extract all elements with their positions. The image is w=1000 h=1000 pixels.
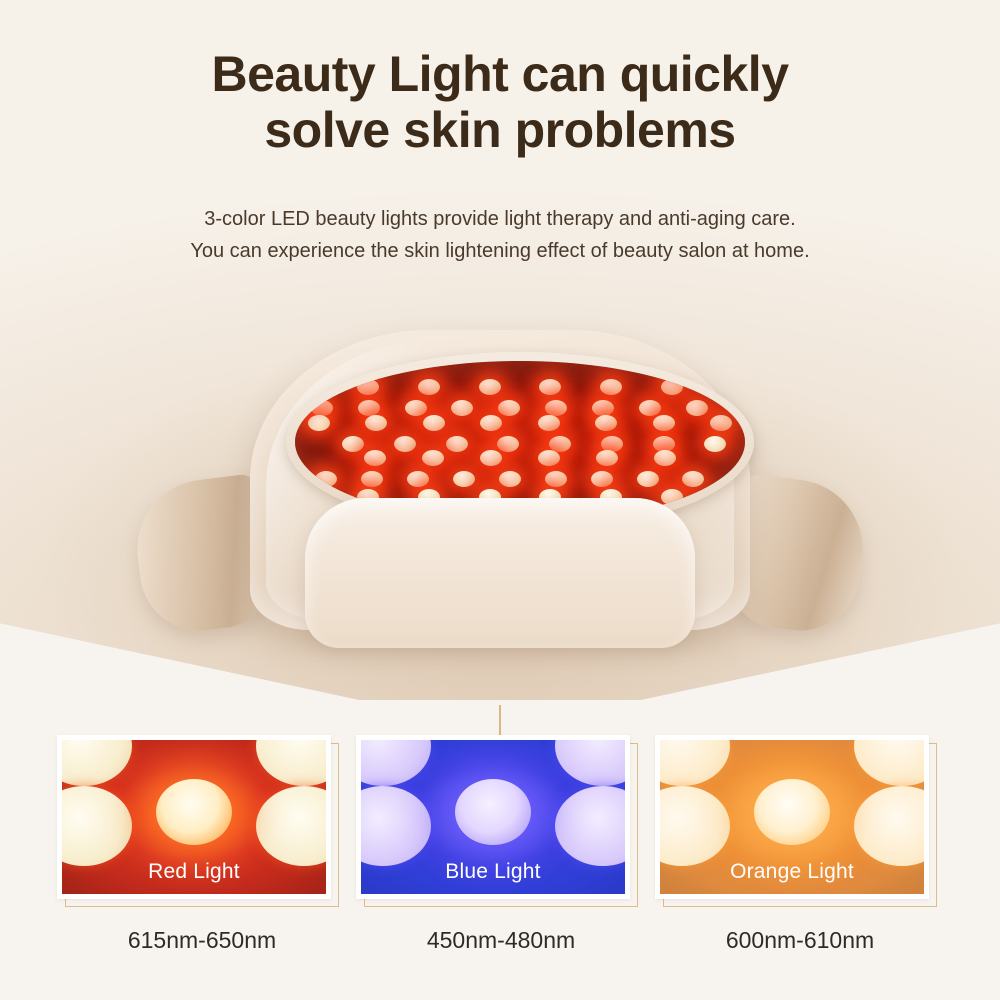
product-feature-page: Beauty Light can quickly solve skin prob…: [0, 0, 1000, 1000]
led-dot-icon: [545, 471, 567, 487]
card-photo-orange: Orange Light: [660, 740, 924, 894]
led-dot-icon: [405, 400, 427, 416]
led-lens-icon: [361, 740, 431, 786]
led-dot-icon: [682, 471, 704, 487]
device-body: [305, 498, 695, 648]
subtitle-line-2: You can experience the skin lightening e…: [0, 235, 1000, 267]
led-dot-icon: [365, 415, 387, 431]
light-mode-cards: Red Light 615nm-650nm Blue Light 450nm-4…: [0, 735, 1000, 985]
card-wavelength-blue: 450nm-480nm: [356, 927, 646, 954]
led-dot-icon: [498, 400, 520, 416]
led-dot-icon: [545, 400, 567, 416]
led-dot-icon: [539, 379, 561, 395]
center-led-glow-icon: [156, 779, 232, 845]
title-line-1: Beauty Light can quickly: [0, 46, 1000, 102]
led-dot-icon: [549, 436, 571, 452]
led-dot-icon: [361, 471, 383, 487]
led-dot-icon: [591, 471, 613, 487]
led-dot-icon: [637, 471, 659, 487]
led-dot-icon: [538, 415, 560, 431]
led-dot-icon: [480, 450, 502, 466]
device-head: [250, 330, 750, 630]
card-photo-wrap-blue: Blue Light: [356, 735, 630, 899]
led-dot-icon: [422, 450, 444, 466]
led-lens-icon: [256, 740, 326, 786]
led-dot-icon: [601, 436, 623, 452]
led-dot-icon: [595, 415, 617, 431]
led-dot-icon: [497, 436, 519, 452]
led-dot-icon: [364, 450, 386, 466]
page-subtitle: 3-color LED beauty lights provide light …: [0, 203, 1000, 267]
led-lens-icon: [854, 740, 924, 786]
card-label-bar-orange: Orange Light: [660, 850, 924, 894]
led-dot-icon: [480, 415, 502, 431]
led-dot-icon: [479, 379, 501, 395]
card-photo-wrap-red: Red Light: [57, 735, 331, 899]
page-title: Beauty Light can quickly solve skin prob…: [0, 46, 1000, 158]
card-label-bar-red: Red Light: [62, 850, 326, 894]
led-dot-icon: [653, 415, 675, 431]
led-dot-icon: [407, 471, 429, 487]
card-photo-blue: Blue Light: [361, 740, 625, 894]
led-dot-icon: [704, 436, 726, 452]
led-dot-icon: [311, 400, 333, 416]
led-beauty-light-device: [130, 330, 870, 660]
card-wavelength-red: 615nm-650nm: [57, 927, 347, 954]
led-lens-icon: [62, 740, 132, 786]
subtitle-line-1: 3-color LED beauty lights provide light …: [0, 203, 1000, 235]
led-dot-icon: [423, 415, 445, 431]
led-dot-icon: [710, 415, 732, 431]
light-card-orange[interactable]: Orange Light 600nm-610nm: [655, 735, 945, 899]
led-dot-icon: [661, 379, 683, 395]
led-lens-icon: [555, 740, 625, 786]
hero-scene: Beauty Light can quickly solve skin prob…: [0, 0, 1000, 700]
led-dot-icon: [342, 436, 364, 452]
led-dot-icon: [654, 450, 676, 466]
led-dot-icon: [592, 400, 614, 416]
led-dot-icon: [661, 489, 683, 505]
led-dot-icon: [418, 379, 440, 395]
led-dot-icon: [357, 379, 379, 395]
led-dot-icon: [308, 415, 330, 431]
led-dot-icon: [499, 471, 521, 487]
center-led-glow-icon: [455, 779, 531, 845]
led-dot-icon: [394, 436, 416, 452]
card-label-bar-blue: Blue Light: [361, 850, 625, 894]
led-dot-icon: [451, 400, 473, 416]
led-dot-icon: [639, 400, 661, 416]
card-photo-red: Red Light: [62, 740, 326, 894]
led-dot-icon: [653, 436, 675, 452]
title-line-2: solve skin problems: [0, 102, 1000, 158]
led-dot-icon: [596, 450, 618, 466]
led-dot-icon: [453, 471, 475, 487]
center-led-glow-icon: [754, 779, 830, 845]
led-dot-icon: [686, 400, 708, 416]
led-dot-icon: [538, 450, 560, 466]
led-dot-icon: [358, 400, 380, 416]
light-card-red[interactable]: Red Light 615nm-650nm: [57, 735, 347, 899]
card-photo-wrap-orange: Orange Light: [655, 735, 929, 899]
led-dot-icon: [315, 471, 337, 487]
led-dot-icon: [600, 379, 622, 395]
card-wavelength-orange: 600nm-610nm: [655, 927, 945, 954]
led-lens-icon: [660, 740, 730, 786]
led-dot-icon: [446, 436, 468, 452]
light-card-blue[interactable]: Blue Light 450nm-480nm: [356, 735, 646, 899]
